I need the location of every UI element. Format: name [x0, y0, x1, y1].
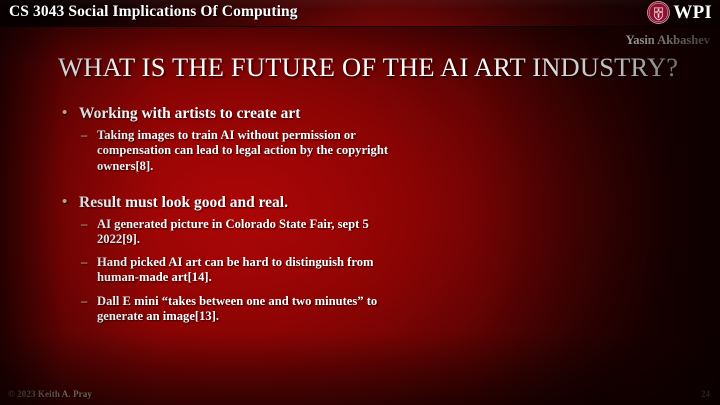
- bullet-level2: – Dall E mini “takes between one and two…: [59, 294, 389, 324]
- bullet-level2-text: Taking images to train AI without permis…: [97, 128, 388, 172]
- en-dash-icon: –: [81, 128, 87, 143]
- sub-bullet-spacer: [59, 287, 389, 294]
- bullet-dot-icon: •: [62, 193, 67, 212]
- sub-bullet-spacer: [59, 248, 389, 255]
- en-dash-icon: –: [81, 294, 87, 309]
- presentation-slide: CS 3043 Social Implications Of Computing…: [0, 0, 720, 405]
- bullet-group-spacer: [59, 175, 389, 193]
- bullet-level1: • Result must look good and real.: [59, 193, 389, 212]
- sub-bullet-list: – AI generated picture in Colorado State…: [59, 217, 389, 324]
- wpi-logo: WPI: [647, 1, 712, 24]
- en-dash-icon: –: [81, 255, 87, 270]
- slide-header-bar: CS 3043 Social Implications Of Computing…: [0, 0, 720, 27]
- bullet-level2: – AI generated picture in Colorado State…: [59, 217, 389, 247]
- bullet-level2: – Hand picked AI art can be hard to dist…: [59, 255, 389, 285]
- en-dash-icon: –: [81, 217, 87, 232]
- bullet-dot-icon: •: [62, 104, 67, 123]
- wpi-crest-seal-icon: [647, 1, 670, 24]
- bullet-level1: • Working with artists to create art: [59, 104, 389, 123]
- slide-title: WHAT IS THE FUTURE OF THE AI ART INDUSTR…: [58, 52, 678, 83]
- wpi-wordmark: WPI: [673, 3, 712, 22]
- bullet-level2-text: Hand picked AI art can be hard to distin…: [97, 255, 374, 284]
- course-title: CS 3043 Social Implications Of Computing: [9, 3, 298, 21]
- slide-page-number: 24: [701, 389, 710, 399]
- sub-bullet-list: – Taking images to train AI without perm…: [59, 128, 389, 173]
- footer-copyright: © 2023 Keith A. Pray: [8, 389, 92, 399]
- presenter-name: Yasin Akbashev: [626, 33, 710, 48]
- bullet-level2-text: AI generated picture in Colorado State F…: [97, 217, 369, 246]
- bullet-level1-text: Result must look good and real.: [79, 194, 288, 211]
- slide-body: • Working with artists to create art – T…: [59, 104, 389, 325]
- bullet-level2: – Taking images to train AI without perm…: [59, 128, 389, 173]
- bullet-level1-text: Working with artists to create art: [79, 105, 300, 122]
- bullet-level2-text: Dall E mini “takes between one and two m…: [97, 294, 377, 323]
